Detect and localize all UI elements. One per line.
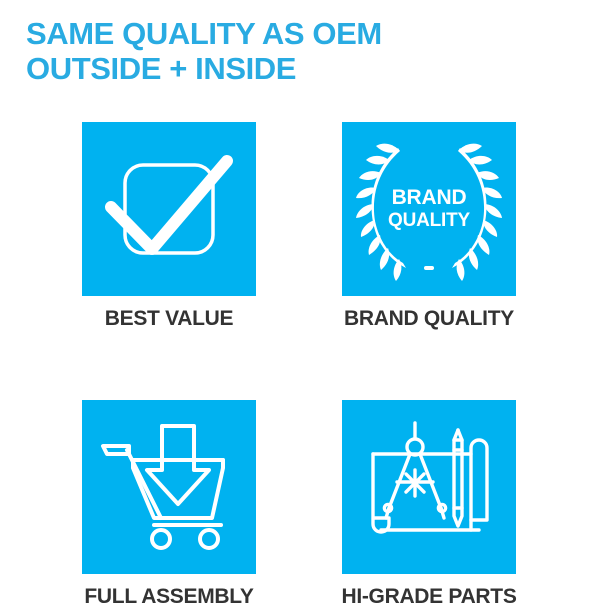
headline-line-2: OUTSIDE + INSIDE bbox=[26, 51, 586, 86]
page-title: SAME QUALITY AS OEM OUTSIDE + INSIDE bbox=[26, 16, 586, 86]
laurel-wreath-icon bbox=[354, 134, 504, 284]
feature-card-brand-quality: BRAND QUALITY BRAND QUALITY bbox=[342, 122, 516, 331]
shopping-cart-download-icon bbox=[99, 422, 239, 552]
checkmark-box-icon bbox=[99, 139, 239, 279]
feature-label-brand-quality: BRAND QUALITY bbox=[329, 306, 529, 331]
feature-card-hi-grade-parts: HI-GRADE PARTS bbox=[342, 400, 516, 609]
feature-label-best-value: BEST VALUE bbox=[69, 306, 269, 331]
feature-label-hi-grade-parts: HI-GRADE PARTS bbox=[329, 584, 529, 609]
feature-tile-brand-quality: BRAND QUALITY bbox=[342, 122, 516, 296]
download-arrow-icon bbox=[147, 426, 209, 504]
feature-card-full-assembly: FULL ASSEMBLY bbox=[82, 400, 256, 609]
headline-line-1: SAME QUALITY AS OEM bbox=[26, 16, 586, 51]
feature-tile-best-value bbox=[82, 122, 256, 296]
blueprint-compass-pencil-icon bbox=[359, 420, 499, 555]
feature-grid: BEST VALUE bbox=[82, 122, 518, 609]
feature-tile-hi-grade-parts bbox=[342, 400, 516, 574]
feature-label-full-assembly: FULL ASSEMBLY bbox=[69, 584, 269, 609]
feature-card-best-value: BEST VALUE bbox=[82, 122, 256, 331]
feature-tile-full-assembly bbox=[82, 400, 256, 574]
